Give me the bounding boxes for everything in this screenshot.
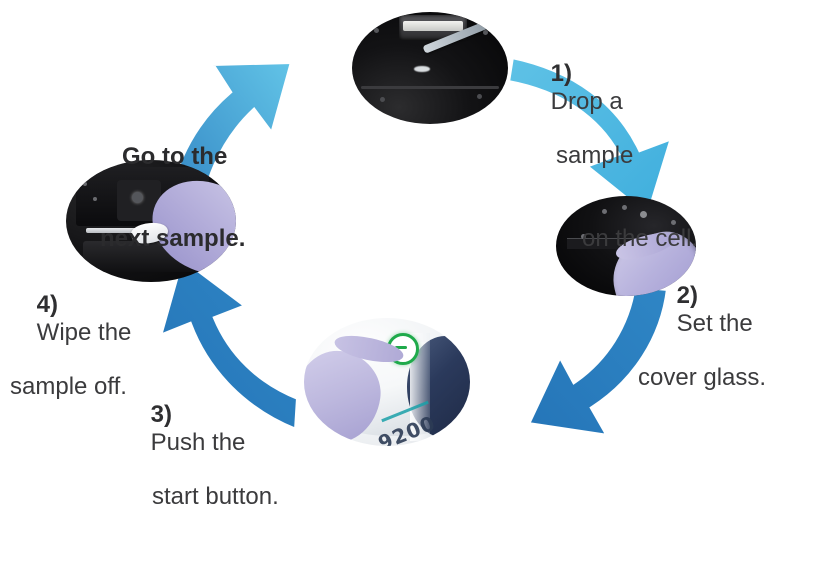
step-3-line-2: start button. — [152, 483, 279, 510]
screw-icon — [374, 28, 379, 33]
loop-label-line-2: next sample. — [100, 225, 245, 252]
screw-icon — [380, 97, 385, 102]
screw-icon — [83, 182, 87, 186]
step-4-line-2: sample off. — [10, 373, 131, 400]
screw-icon — [483, 30, 488, 35]
caption-step-3: 3) Push the start button. — [124, 374, 279, 566]
arrow-step2-to-step3 — [528, 286, 668, 436]
step-4-line-1: Wipe the — [37, 319, 132, 346]
step-1-number: 1) — [551, 60, 572, 87]
step-3-line-1: Push the — [151, 429, 246, 456]
screw-icon — [477, 94, 482, 99]
caption-step-2: 2) Set the cover glass. — [650, 255, 766, 447]
photo-drop-sample-on-cell — [352, 12, 508, 124]
caption-loop-next-sample: Go to the next sample. — [100, 88, 245, 307]
slot-highlight — [403, 21, 462, 31]
screw-icon — [93, 197, 97, 201]
step-3-number: 3) — [151, 401, 172, 428]
step-1-line-1: Drop a — [551, 88, 623, 115]
instrument-edge — [361, 86, 498, 89]
pipette-tip — [414, 66, 430, 73]
step-2-number: 2) — [677, 282, 698, 309]
step-1-line-2: sample — [556, 142, 698, 169]
loop-label-line-1: Go to the — [122, 143, 245, 170]
step-2-line-1: Set the — [677, 310, 753, 337]
step-1-line-3: on the cell. — [582, 225, 698, 252]
step-2-line-2: cover glass. — [638, 364, 766, 391]
step-4-number: 4) — [37, 291, 58, 318]
workflow-cycle-diagram: 9200 1) Drop a sample on the cell. 2) Se… — [0, 0, 820, 446]
photo-push-start-button: 9200 — [304, 318, 470, 446]
